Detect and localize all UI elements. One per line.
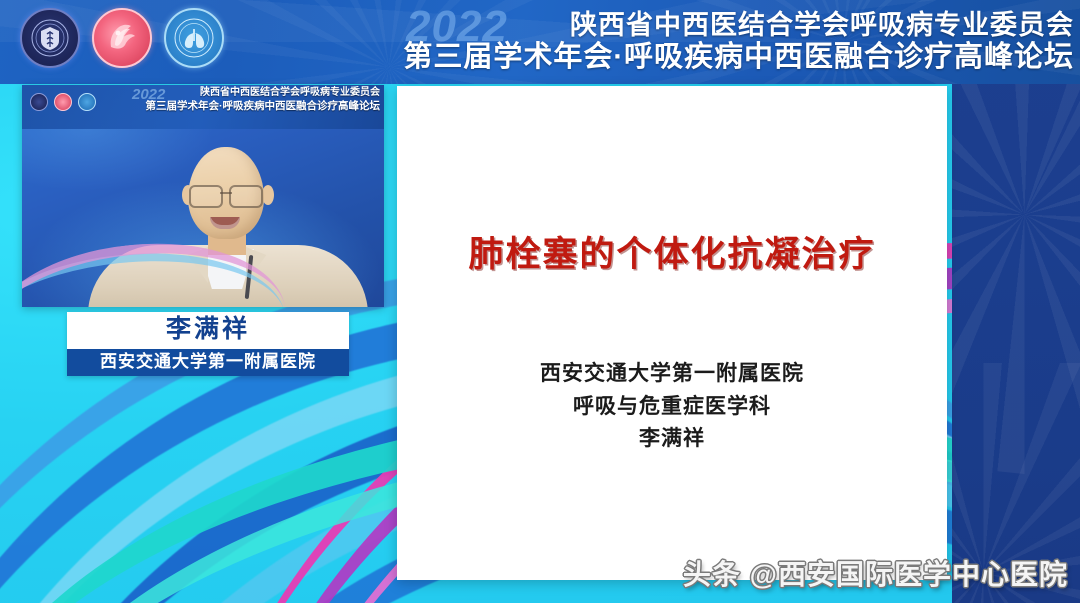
speaker-nameplate: 李满祥 西安交通大学第一附属医院 xyxy=(67,312,349,376)
mini-lung-logo xyxy=(78,93,96,111)
phoenix-emblem-logo xyxy=(92,8,152,68)
presenter-video-feed[interactable]: 2022 陕西省中西医结合学会呼吸病专业委员会 第三届学术年会·呼吸疾病中西医融… xyxy=(22,85,384,307)
glasses-icon xyxy=(188,185,264,205)
mini-phoenix-logo xyxy=(54,93,72,111)
video-mini-title-line-2: 第三届学术年会·呼吸疾病中西医融合诊疗高峰论坛 xyxy=(146,100,381,113)
respiratory-lung-society-logo xyxy=(164,8,224,68)
presentation-slide[interactable]: 肺栓塞的个体化抗凝治疗 西安交通大学第一附属医院 呼吸与危重症医学科 李满祥 xyxy=(397,86,947,580)
shaanxi-integrative-medicine-association-logo xyxy=(20,8,80,68)
slide-subtitle-line-2: 呼吸与危重症医学科 xyxy=(397,391,947,424)
slide-subtitle-line-3: 李满祥 xyxy=(397,423,947,456)
speaker-name: 李满祥 xyxy=(67,312,349,349)
conference-title-line-1: 陕西省中西医结合学会呼吸病专业委员会 xyxy=(570,10,1074,40)
speaker-affiliation: 西安交通大学第一附属医院 xyxy=(67,349,349,377)
video-mini-header-banner: 2022 陕西省中西医结合学会呼吸病专业委员会 第三届学术年会·呼吸疾病中西医融… xyxy=(22,85,384,129)
channel-watermark: 头条 @西安国际医学中心医院 xyxy=(683,553,1068,593)
video-mini-title-line-1: 陕西省中西医结合学会呼吸病专业委员会 xyxy=(146,87,381,100)
right-navy-panel xyxy=(952,0,1080,603)
slide-subtitle-block: 西安交通大学第一附属医院 呼吸与危重症医学科 李满祥 xyxy=(397,358,947,456)
conference-title-line-2: 第三届学术年会·呼吸疾病中西医融合诊疗高峰论坛 xyxy=(403,41,1074,73)
slide-title: 肺栓塞的个体化抗凝治疗 xyxy=(397,226,947,277)
mini-association-logo xyxy=(30,93,48,111)
webinar-screenshot: 2022 陕西省中西医结合学会呼吸病专业委员会 第三届学术年会·呼吸疾病中西医融… xyxy=(0,0,1080,603)
video-mini-title-block: 陕西省中西医结合学会呼吸病专业委员会 第三届学术年会·呼吸疾病中西医融合诊疗高峰… xyxy=(146,87,381,113)
video-mini-logos xyxy=(30,93,96,111)
slide-subtitle-line-1: 西安交通大学第一附属医院 xyxy=(397,358,947,391)
organizer-logos xyxy=(20,8,224,68)
